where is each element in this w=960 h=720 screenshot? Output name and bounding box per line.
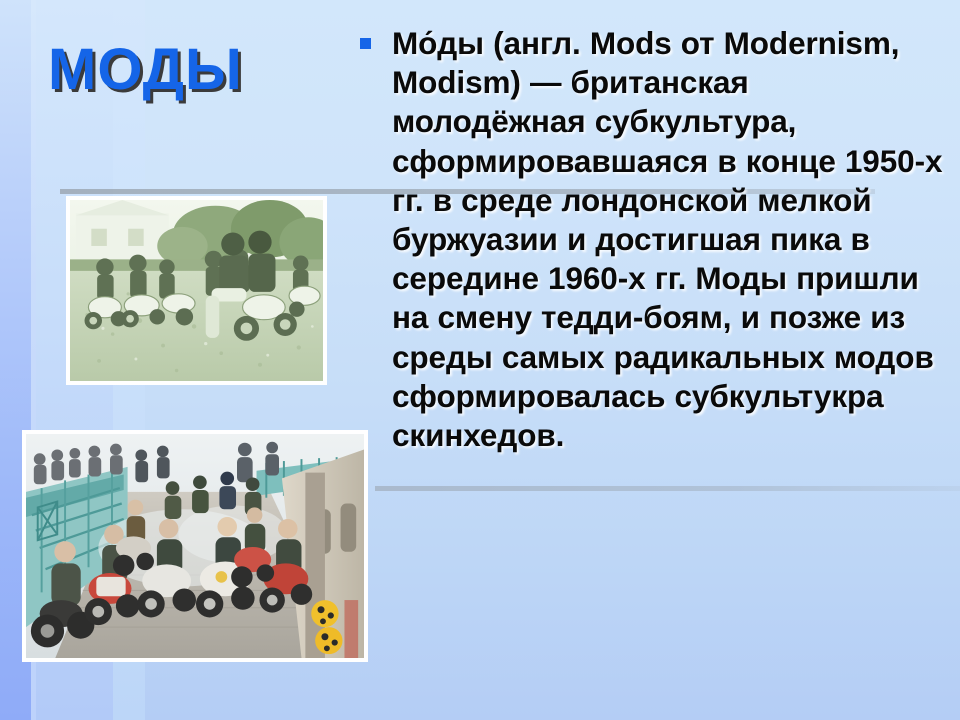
photo-scooters-vintage-artwork — [70, 200, 323, 381]
square-bullet-icon — [360, 38, 371, 49]
body-paragraph: Мо́ды (англ. Mods от Modernism, Modism) … — [392, 24, 948, 455]
photo-scooters-rally — [22, 430, 368, 662]
page-title: МОДЫ — [48, 40, 348, 101]
divider-rule-middle — [375, 486, 960, 491]
content-text-block: Мо́ды (англ. Mods от Modernism, Modism) … — [360, 24, 948, 455]
photo-scooters-rally-artwork — [26, 434, 364, 658]
photo-scooters-vintage — [66, 196, 327, 385]
bullet-item: Мо́ды (англ. Mods от Modernism, Modism) … — [360, 24, 948, 455]
presentation-slide: МОДЫ — [0, 0, 960, 720]
